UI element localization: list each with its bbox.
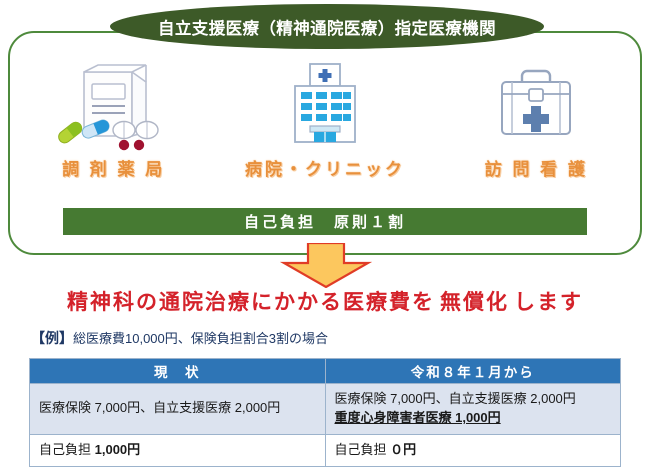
cell-future-self-burden-value: ０円	[390, 442, 416, 457]
table-header-row: 現 状 令和８年１月から	[30, 359, 621, 384]
table-row-self-burden: 自己負担 1,000円 自己負担 ０円	[30, 434, 621, 466]
facility-item-pharmacy: 調 剤 薬 局	[8, 58, 219, 198]
pharmacy-bag-icon	[54, 58, 174, 153]
medical-kit-icon	[486, 58, 586, 153]
cell-current-self-burden-label: 自己負担	[39, 442, 95, 457]
headline-text-after: します	[514, 286, 583, 316]
hospital-building-icon	[277, 58, 373, 153]
example-note: 【例】総医療費10,000円、保険負担割合3割の場合	[31, 328, 328, 348]
headline-text-before: 精神科の通院治療にかかる医療費を	[67, 286, 435, 316]
cell-future-breakdown: 医療保険 7,000円、自立支援医療 2,000円 重度心身障害者医療 1,00…	[325, 384, 621, 435]
cell-current-breakdown: 医療保険 7,000円、自立支援医療 2,000円	[30, 384, 326, 435]
facility-label-visiting-nurse: 訪 問 看 護	[485, 155, 588, 180]
cell-current-self-burden: 自己負担 1,000円	[30, 434, 326, 466]
example-tag: 【例】	[31, 330, 73, 346]
facility-label-hospital: 病院・クリニック	[245, 155, 405, 180]
table-header-current: 現 状	[30, 359, 326, 384]
headline-line: 精神科の通院治療にかかる医療費を無償化します	[67, 286, 583, 316]
cell-future-self-burden: 自己負担 ０円	[325, 434, 621, 466]
facility-icon-row: 調 剤 薬 局	[8, 58, 642, 198]
cell-future-self-burden-label: 自己負担	[335, 442, 391, 457]
facility-label-pharmacy: 調 剤 薬 局	[62, 155, 165, 180]
down-arrow-icon	[278, 243, 374, 288]
table-row-breakdown: 医療保険 7,000円、自立支援医療 2,000円 医療保険 7,000円、自立…	[30, 384, 621, 435]
self-burden-bar: 自己負担 原則１割	[63, 208, 587, 235]
cell-future-breakdown-line2: 重度心身障害者医療 1,000円	[335, 409, 612, 428]
facility-item-visiting-nurse: 訪 問 看 護	[431, 58, 642, 198]
banner-title-text: 自立支援医療（精神通院医療）指定医療機関	[158, 15, 496, 39]
self-burden-text: 自己負担 原則１割	[244, 211, 406, 232]
headline-highlight: 無償化	[435, 286, 514, 316]
table-header-future: 令和８年１月から	[325, 359, 621, 384]
example-text: 総医療費10,000円、保険負担割合3割の場合	[73, 331, 328, 346]
cell-future-breakdown-line1: 医療保険 7,000円、自立支援医療 2,000円	[335, 390, 612, 409]
banner-title-ellipse: 自立支援医療（精神通院医療）指定医療機関	[110, 4, 544, 49]
cell-current-self-burden-value: 1,000円	[95, 442, 141, 457]
headline-banner: 精神科の通院治療にかかる医療費を無償化します	[0, 283, 650, 319]
facility-item-hospital: 病院・クリニック	[219, 58, 430, 198]
comparison-table: 現 状 令和８年１月から 医療保険 7,000円、自立支援医療 2,000円 医…	[29, 358, 621, 467]
